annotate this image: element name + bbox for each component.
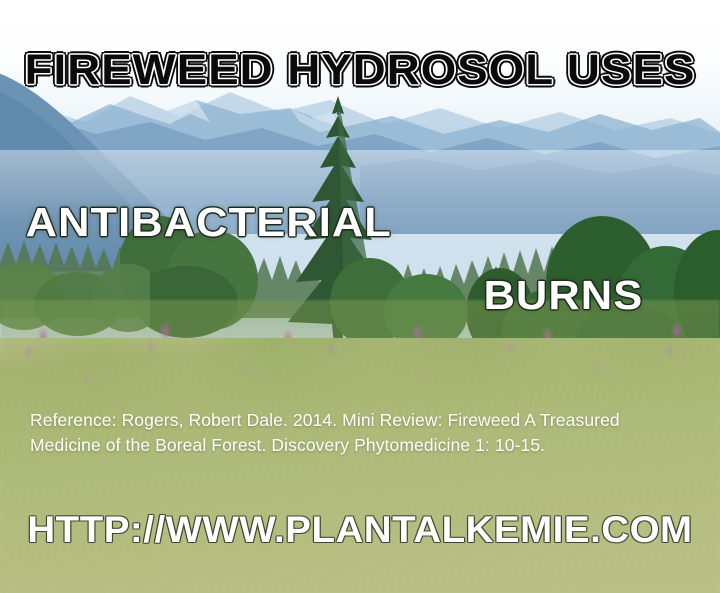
page-title: FIREWEED HYDROSOL USES	[0, 46, 720, 95]
benefit-label-antibacterial: ANTIBACTERIAL	[26, 199, 392, 246]
fireweed-hydrosol-poster: FIREWEED HYDROSOL USES ANTIBACTERIAL BUR…	[0, 0, 720, 593]
reference-citation: Reference: Rogers, Robert Dale. 2014. Mi…	[30, 408, 694, 458]
website-url[interactable]: HTTP://WWW.PLANTALKEMIE.COM	[0, 509, 720, 551]
benefit-label-burns: BURNS	[483, 272, 643, 319]
